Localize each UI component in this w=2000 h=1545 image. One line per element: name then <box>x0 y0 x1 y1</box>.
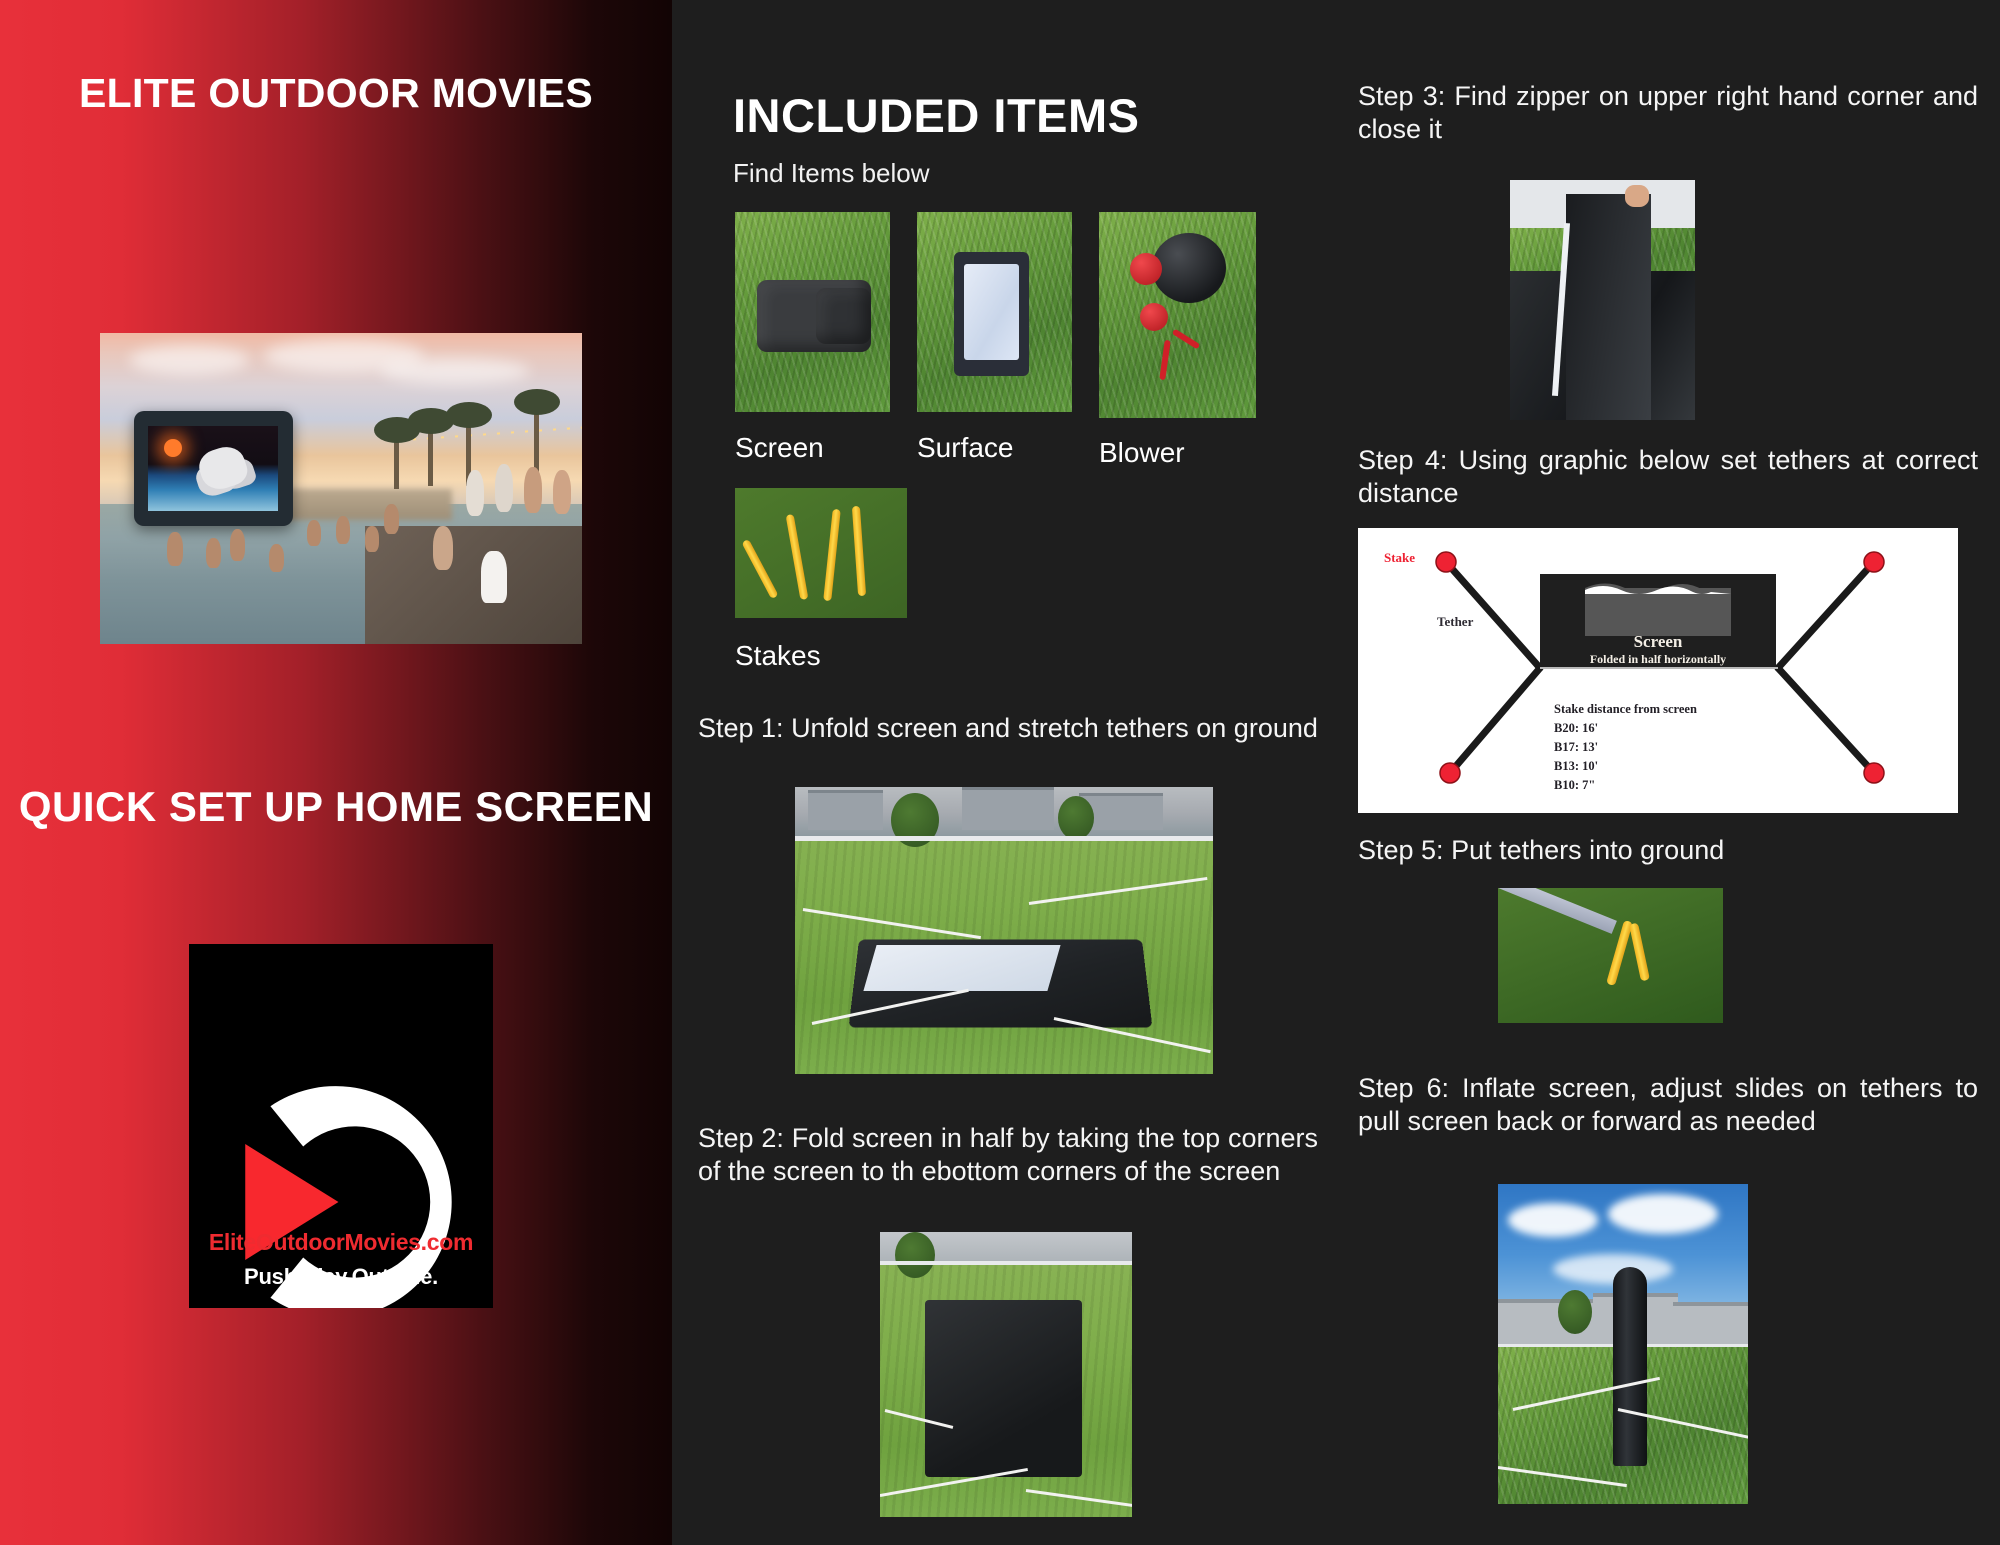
find-items-subheading: Find Items below <box>733 158 930 189</box>
hero-person <box>524 467 542 513</box>
hero-pool-deck <box>365 526 582 644</box>
step-1-text: Step 1: Unfold screen and stretch tether… <box>698 712 1344 745</box>
item-photo-stakes <box>735 488 907 618</box>
step-4-text: Step 4: Using graphic below set tethers … <box>1358 444 1978 511</box>
astronaut-icon <box>195 442 251 494</box>
hero-person <box>269 544 284 572</box>
step-3-text: Step 3: Find zipper on upper right hand … <box>1358 80 1978 147</box>
hero-person <box>553 470 571 514</box>
folded-screen <box>925 1300 1081 1477</box>
hero-person <box>307 520 321 546</box>
diagram-screen-label: Screen <box>1540 632 1776 652</box>
tether-line <box>1026 1489 1132 1507</box>
hero-person <box>336 516 350 544</box>
palm-tree-icon <box>428 420 433 486</box>
stake-icon <box>1629 923 1650 982</box>
hero-person <box>481 551 507 603</box>
hero-person <box>167 532 183 566</box>
item-label-stakes: Stakes <box>735 640 821 672</box>
diagram-stake-label: Stake <box>1384 550 1415 566</box>
sun-flare-icon <box>164 439 182 457</box>
step-5-photo <box>1498 888 1723 1023</box>
brochure-page: ELITE OUTDOOR MOVIES <box>0 0 2000 1545</box>
hero-person <box>466 470 484 516</box>
hero-person <box>365 526 379 552</box>
included-items-heading: INCLUDED ITEMS <box>733 88 1140 143</box>
tether-line <box>803 908 981 939</box>
step-6-photo <box>1498 1184 1748 1504</box>
step-6-text: Step 6: Inflate screen, adjust slides on… <box>1358 1072 1978 1139</box>
step-3-photo <box>1510 180 1695 420</box>
hero-person <box>433 526 453 570</box>
item-photo-surface <box>917 212 1072 412</box>
fence <box>880 1261 1132 1265</box>
surface-tarp <box>864 945 1061 991</box>
diagram-tether-label: Tether <box>1437 614 1473 630</box>
item-label-blower: Blower <box>1099 437 1185 469</box>
cloud-icon <box>1508 1203 1598 1237</box>
diagram-screen-sublabel: Folded in half horizontally <box>1540 652 1776 667</box>
item-photo-screen <box>735 212 890 412</box>
hero-person <box>230 529 245 561</box>
tree-icon <box>1558 1290 1592 1334</box>
logo-box: EliteOutdoorMovies.com Push.Play.Outside… <box>189 944 493 1308</box>
diagram-distance-b13: B13: 10' <box>1554 757 1697 776</box>
tether-distance-diagram: Stake Tether Screen Folded in half horiz… <box>1358 528 1958 813</box>
palm-tree-icon <box>394 429 399 489</box>
brand-title: ELITE OUTDOOR MOVIES <box>0 68 672 118</box>
house <box>1673 1302 1748 1344</box>
diagram-distance-heading: Stake distance from screen <box>1554 700 1697 719</box>
tether-strap <box>1498 888 1617 934</box>
subhead-title: QUICK SET UP HOME SCREEN <box>0 782 672 832</box>
cloud-icon <box>1608 1194 1718 1234</box>
step-2-photo <box>880 1232 1132 1517</box>
inflated-screen <box>1613 1267 1647 1465</box>
step-1-photo <box>795 787 1213 1074</box>
hero-person <box>384 504 399 534</box>
hero-photo-outdoor-movie <box>100 333 582 644</box>
item-label-surface: Surface <box>917 432 1014 464</box>
tether-line <box>1029 877 1208 905</box>
left-brand-panel: ELITE OUTDOOR MOVIES <box>0 0 672 1545</box>
diagram-distance-b17: B17: 13' <box>1554 738 1697 757</box>
step-2-text: Step 2: Fold screen in half by taking th… <box>698 1122 1318 1189</box>
hero-person <box>495 464 513 512</box>
hero-person <box>206 538 221 568</box>
diagram-distance-b20: B20: 16' <box>1554 719 1697 738</box>
tree-icon <box>895 1232 935 1278</box>
hand-icon <box>1625 185 1649 207</box>
item-photo-blower <box>1099 212 1256 418</box>
diagram-distance-b10: B10: 7" <box>1554 776 1697 795</box>
hero-projected-image <box>148 426 278 511</box>
logo-website-url: EliteOutdoorMovies.com <box>189 1229 493 1256</box>
hero-inflatable-screen <box>134 411 293 526</box>
fence <box>795 836 1213 841</box>
screen-fold <box>1566 194 1651 420</box>
hero-cloud-icon <box>380 358 530 384</box>
logo-tagline: Push.Play.Outside. <box>189 1264 493 1290</box>
item-label-screen: Screen <box>735 432 824 464</box>
step-5-text: Step 5: Put tethers into ground <box>1358 834 1978 867</box>
tree-icon <box>1058 796 1094 840</box>
